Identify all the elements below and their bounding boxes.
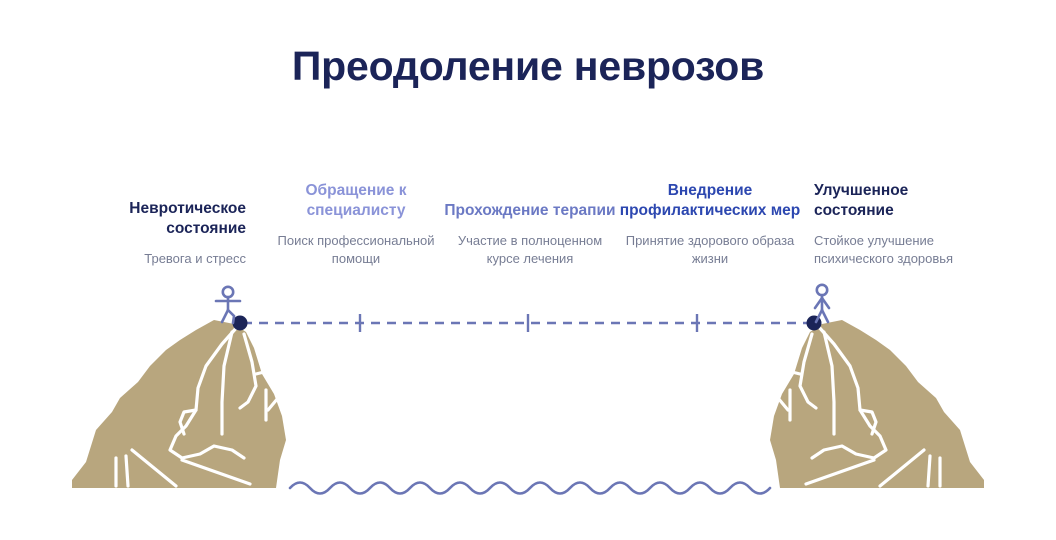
stage-spacer xyxy=(74,239,246,250)
stage-column-2: Обращение к специалисту Поиск профессион… xyxy=(264,128,448,268)
stage-description-2: Поиск профессиональной помощи xyxy=(264,232,448,268)
stage-spacer xyxy=(442,221,618,232)
left-mountain-icon xyxy=(72,320,286,488)
illustration-scene xyxy=(0,270,1056,510)
stage-description-5: Стойкое улучшение психического здоровья xyxy=(814,232,984,268)
stage-description-3: Участие в полноценном курсе лечения xyxy=(442,232,618,268)
stage-description-4: Принятие здорового образа жизни xyxy=(612,232,808,268)
stage-spacer xyxy=(612,221,808,232)
stage-title-1: Невротическое состояние xyxy=(74,199,246,239)
stage-title-3: Прохождение терапии xyxy=(442,201,618,221)
stage-title-5: Улучшенное состояние xyxy=(814,181,984,221)
page-title: Преодоление неврозов xyxy=(0,44,1056,89)
stage-title-4: Внедрение профилактических мер xyxy=(612,181,808,221)
stage-column-5: Улучшенное состояние Стойкое улучшение п… xyxy=(814,128,984,268)
stage-column-4: Внедрение профилактических мер Принятие … xyxy=(612,128,808,268)
stage-spacer xyxy=(264,221,448,232)
stage-column-1: Невротическое состояние Тревога и стресс xyxy=(74,128,246,268)
stage-spacer xyxy=(814,221,984,232)
stage-description-1: Тревога и стресс xyxy=(74,250,246,268)
right-mountain-icon xyxy=(770,320,984,488)
water-wave-line xyxy=(290,483,770,494)
infographic-canvas: Преодоление неврозов Невротическое состо… xyxy=(0,0,1056,540)
stage-column-3: Прохождение терапии Участие в полноценно… xyxy=(442,128,618,268)
progress-path xyxy=(233,314,822,332)
stage-title-2: Обращение к специалисту xyxy=(264,181,448,221)
